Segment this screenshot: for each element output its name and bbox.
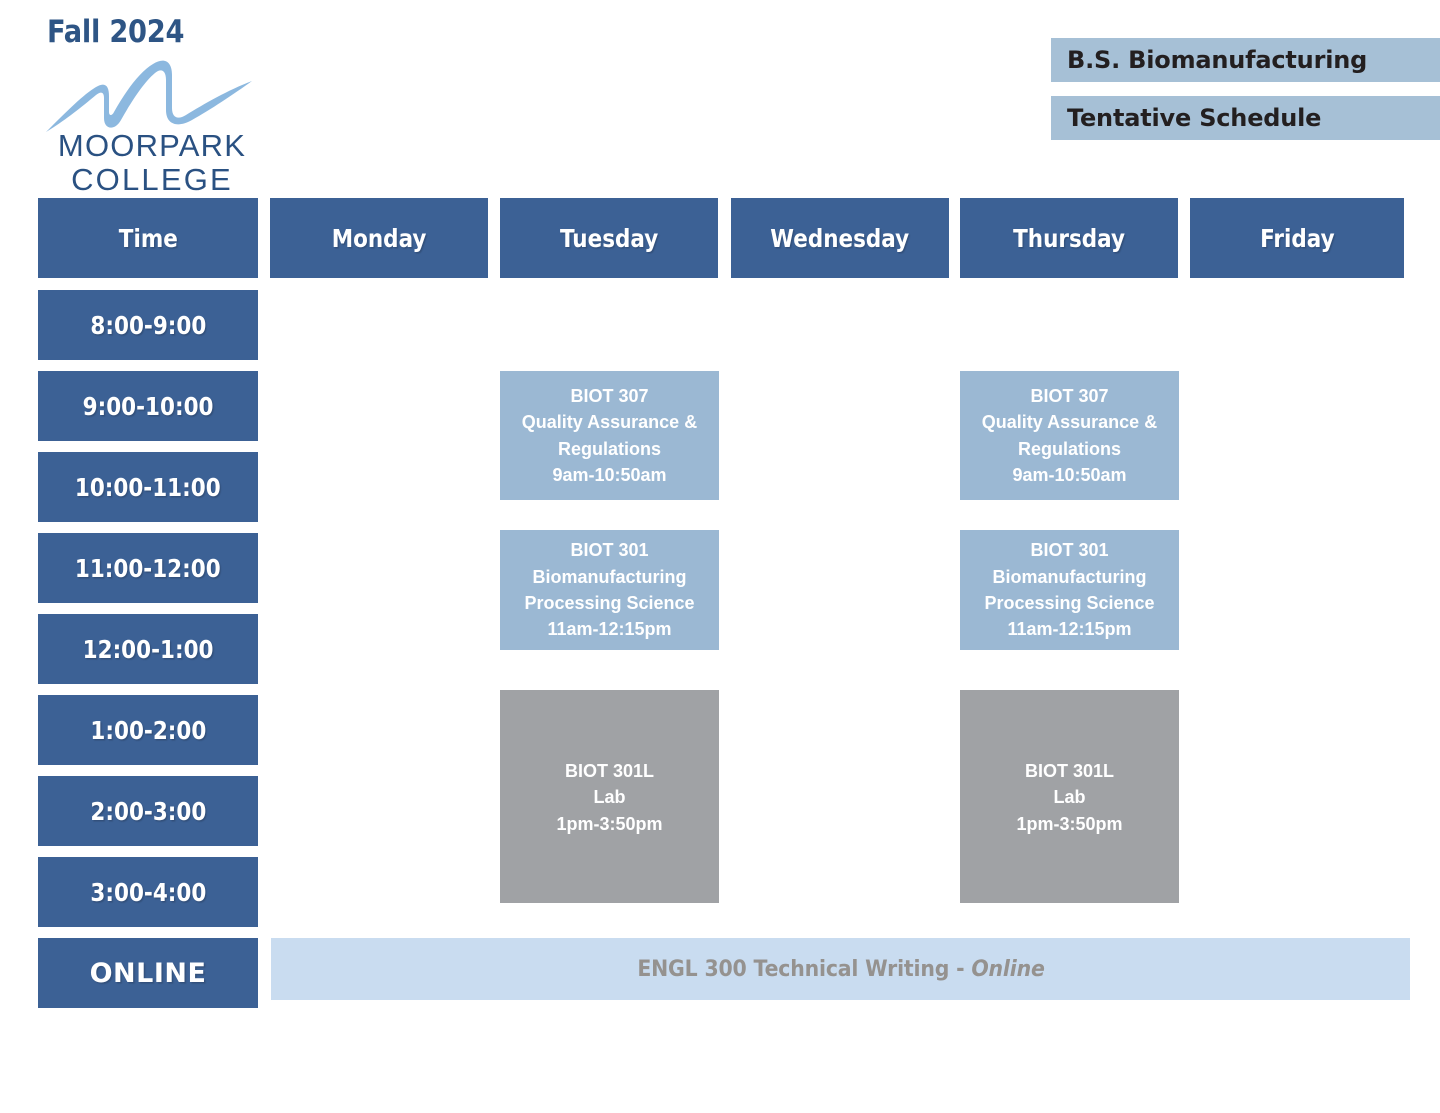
course-title-line2: Processing Science: [984, 590, 1154, 616]
course-block-biot307-thursday[interactable]: BIOT 307 Quality Assurance & Regulations…: [960, 371, 1179, 500]
course-block-biot301l-tuesday[interactable]: BIOT 301L Lab 1pm-3:50pm: [500, 690, 719, 903]
time-slot-online: ONLINE: [38, 938, 258, 1008]
course-code: BIOT 307: [1030, 383, 1108, 409]
course-code: BIOT 301: [570, 537, 648, 563]
time-slot-8-9: 8:00-9:00: [38, 290, 258, 360]
course-time: 9am-10:50am: [552, 462, 666, 488]
lab-text-group: BIOT 301L Lab 1pm-3:50pm: [556, 758, 662, 837]
time-slot-9-10: 9:00-10:00: [38, 371, 258, 441]
online-course-emphasis: Online: [971, 957, 1044, 982]
online-course-label: ENGL 300 Technical Writing - Online: [637, 957, 1044, 982]
time-slot-11-12: 11:00-12:00: [38, 533, 258, 603]
time-slot-1-2: 1:00-2:00: [38, 695, 258, 765]
column-header-wednesday: Wednesday: [731, 198, 949, 278]
online-course-text: ENGL 300 Technical Writing -: [637, 957, 971, 982]
course-title-line1: Lab: [1016, 784, 1122, 810]
course-code: BIOT 301L: [556, 758, 662, 784]
course-title-line1: Biomanufacturing: [992, 564, 1146, 590]
time-slot-2-3: 2:00-3:00: [38, 776, 258, 846]
course-block-biot301-thursday[interactable]: BIOT 301 Biomanufacturing Processing Sci…: [960, 530, 1179, 650]
course-block-biot307-tuesday[interactable]: BIOT 307 Quality Assurance & Regulations…: [500, 371, 719, 500]
lab-text-group: BIOT 301L Lab 1pm-3:50pm: [1016, 758, 1122, 837]
course-title-line1: Lab: [556, 784, 662, 810]
course-time: 11am-12:15pm: [1007, 616, 1131, 642]
course-block-engl300-online[interactable]: ENGL 300 Technical Writing - Online: [271, 938, 1410, 1000]
schedule-grid: Time Monday Tuesday Wednesday Thursday F…: [0, 0, 1440, 1113]
course-time: 11am-12:15pm: [547, 616, 671, 642]
course-block-biot301-tuesday[interactable]: BIOT 301 Biomanufacturing Processing Sci…: [500, 530, 719, 650]
course-time: 1pm-3:50pm: [556, 811, 662, 837]
course-title-line1: Quality Assurance &: [522, 409, 697, 435]
course-time: 9am-10:50am: [1012, 462, 1126, 488]
course-code: BIOT 301L: [1016, 758, 1122, 784]
time-slot-12-1: 12:00-1:00: [38, 614, 258, 684]
course-title-line1: Biomanufacturing: [532, 564, 686, 590]
course-title-line1: Quality Assurance &: [982, 409, 1157, 435]
column-header-thursday: Thursday: [960, 198, 1178, 278]
column-header-friday: Friday: [1190, 198, 1404, 278]
course-code: BIOT 307: [570, 383, 648, 409]
course-title-line2: Regulations: [558, 436, 661, 462]
course-time: 1pm-3:50pm: [1016, 811, 1122, 837]
column-header-time: Time: [38, 198, 258, 278]
course-title-line2: Processing Science: [524, 590, 694, 616]
course-title-line2: Regulations: [1018, 436, 1121, 462]
course-code: BIOT 301: [1030, 537, 1108, 563]
time-slot-3-4: 3:00-4:00: [38, 857, 258, 927]
time-slot-10-11: 10:00-11:00: [38, 452, 258, 522]
course-block-biot301l-thursday[interactable]: BIOT 301L Lab 1pm-3:50pm: [960, 690, 1179, 903]
column-header-tuesday: Tuesday: [500, 198, 718, 278]
column-header-monday: Monday: [270, 198, 488, 278]
